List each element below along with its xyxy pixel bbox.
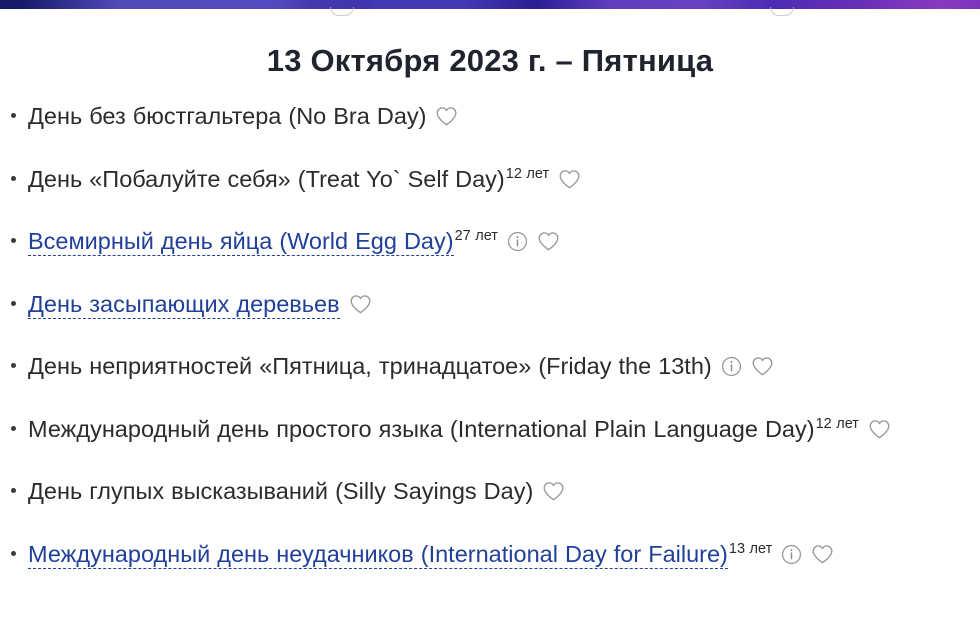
bullet-dot	[11, 301, 16, 306]
info-icon[interactable]	[507, 231, 528, 252]
holiday-item: День без бюстгальтера (No Bra Day)	[0, 97, 980, 135]
holiday-item: День «Побалуйте себя» (Treat Yo` Self Da…	[0, 160, 980, 198]
holiday-item: День глупых высказываний (Silly Sayings …	[0, 472, 980, 510]
bullet-dot	[11, 176, 16, 181]
info-icon[interactable]	[781, 544, 802, 565]
holiday-label: День глупых высказываний (Silly Sayings …	[28, 478, 533, 504]
holiday-list: День без бюстгальтера (No Bra Day)День «…	[0, 97, 980, 597]
holiday-item: Международный день простого языка (Inter…	[0, 410, 980, 448]
holiday-item: День засыпающих деревьев	[0, 285, 980, 323]
heart-icon[interactable]	[811, 544, 834, 565]
heart-icon[interactable]	[558, 169, 581, 190]
bullet-dot	[11, 113, 16, 118]
bullet-dot	[11, 488, 16, 493]
banner-notch-right	[770, 7, 794, 16]
heart-icon[interactable]	[751, 356, 774, 377]
page-title: 13 Октября 2023 г. – Пятница	[0, 43, 980, 79]
holiday-link[interactable]: Всемирный день яйца (World Egg Day)	[28, 228, 454, 256]
banner-notch-left	[330, 7, 354, 16]
holiday-age-superscript: 13 лет	[729, 541, 772, 557]
holiday-age-superscript: 27 лет	[455, 228, 498, 244]
bullet-dot	[11, 551, 16, 556]
holiday-link[interactable]: Международный день неудачников (Internat…	[28, 541, 728, 569]
bullet-dot	[11, 238, 16, 243]
decorative-banner-strip	[0, 0, 980, 9]
heart-icon[interactable]	[868, 419, 891, 440]
holiday-item: Всемирный день яйца (World Egg Day)27 ле…	[0, 222, 980, 260]
heart-icon[interactable]	[542, 481, 565, 502]
holiday-link[interactable]: День засыпающих деревьев	[28, 291, 340, 319]
holiday-label: День без бюстгальтера (No Bra Day)	[28, 103, 426, 129]
holiday-age-superscript: 12 лет	[506, 166, 549, 182]
holiday-label: Международный день простого языка (Inter…	[28, 416, 815, 442]
heart-icon[interactable]	[435, 106, 458, 127]
heart-icon[interactable]	[537, 231, 560, 252]
holiday-item: Международный день неудачников (Internat…	[0, 535, 980, 573]
holiday-label: День «Побалуйте себя» (Treat Yo` Self Da…	[28, 166, 505, 192]
bullet-dot	[11, 426, 16, 431]
holiday-age-superscript: 12 лет	[816, 416, 859, 432]
info-icon[interactable]	[721, 356, 742, 377]
holiday-label: День неприятностей «Пятница, тринадцатое…	[28, 353, 712, 379]
holiday-item: День неприятностей «Пятница, тринадцатое…	[0, 347, 980, 385]
heart-icon[interactable]	[349, 294, 372, 315]
bullet-dot	[11, 363, 16, 368]
